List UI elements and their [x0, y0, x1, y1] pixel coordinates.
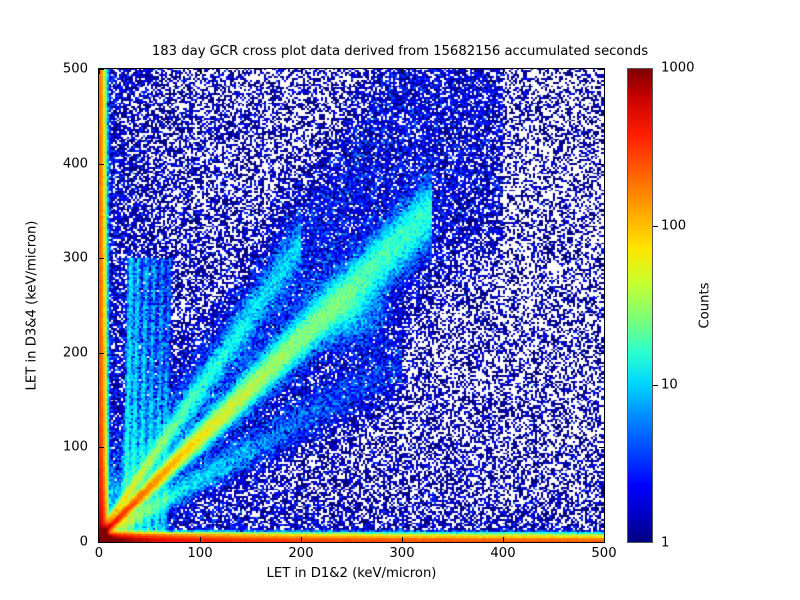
title-line-1: 183 day GCR cross plot data derived from…	[0, 43, 800, 61]
y-tick	[99, 447, 104, 448]
colorbar-ticklabel: 1000	[661, 61, 695, 76]
colorbar-ticklabel: 100	[661, 219, 686, 234]
x-tick	[503, 69, 504, 74]
y-tick	[599, 447, 604, 448]
x-tick	[200, 537, 201, 542]
colorbar-ticklabel: 10	[661, 377, 678, 392]
plot-area	[98, 68, 605, 543]
x-tick	[402, 537, 403, 542]
y-ticklabel: 300	[63, 251, 88, 266]
y-tick	[99, 69, 104, 70]
x-tick	[402, 69, 403, 74]
y-tick	[599, 69, 604, 70]
x-tick	[604, 69, 605, 74]
y-ticklabel: 100	[63, 440, 88, 455]
y-tick	[99, 353, 104, 354]
y-tick	[99, 164, 104, 165]
y-ticklabel: 500	[63, 62, 88, 77]
y-tick	[99, 542, 104, 543]
x-ticklabel: 0	[95, 546, 103, 561]
colorbar-title: Counts	[698, 256, 713, 356]
x-axis-title: LET in D1&2 (keV/micron)	[98, 566, 605, 581]
x-ticklabel: 100	[187, 546, 212, 561]
y-tick	[99, 258, 104, 259]
x-tick	[604, 537, 605, 542]
x-ticklabel: 500	[591, 546, 616, 561]
heatmap-canvas	[99, 69, 604, 542]
y-ticklabel: 200	[63, 345, 88, 360]
x-ticklabel: 300	[389, 546, 414, 561]
y-ticklabel: 0	[80, 535, 88, 550]
colorbar-ticklabel: 1	[661, 536, 669, 551]
y-tick	[599, 542, 604, 543]
x-ticklabel: 400	[490, 546, 515, 561]
colorbar	[627, 68, 653, 543]
colorbar-tick	[653, 226, 658, 227]
y-axis-title: LET in D3&4 (keV/micron)	[25, 216, 40, 396]
figure-canvas: 183 day GCR cross plot data derived from…	[0, 0, 800, 600]
y-tick	[599, 164, 604, 165]
y-tick	[599, 353, 604, 354]
y-ticklabel: 400	[63, 156, 88, 171]
x-tick	[503, 537, 504, 542]
x-tick	[301, 69, 302, 74]
x-tick	[200, 69, 201, 74]
colorbar-tick	[653, 385, 658, 386]
x-tick	[301, 537, 302, 542]
x-ticklabel: 200	[288, 546, 313, 561]
y-tick	[599, 258, 604, 259]
